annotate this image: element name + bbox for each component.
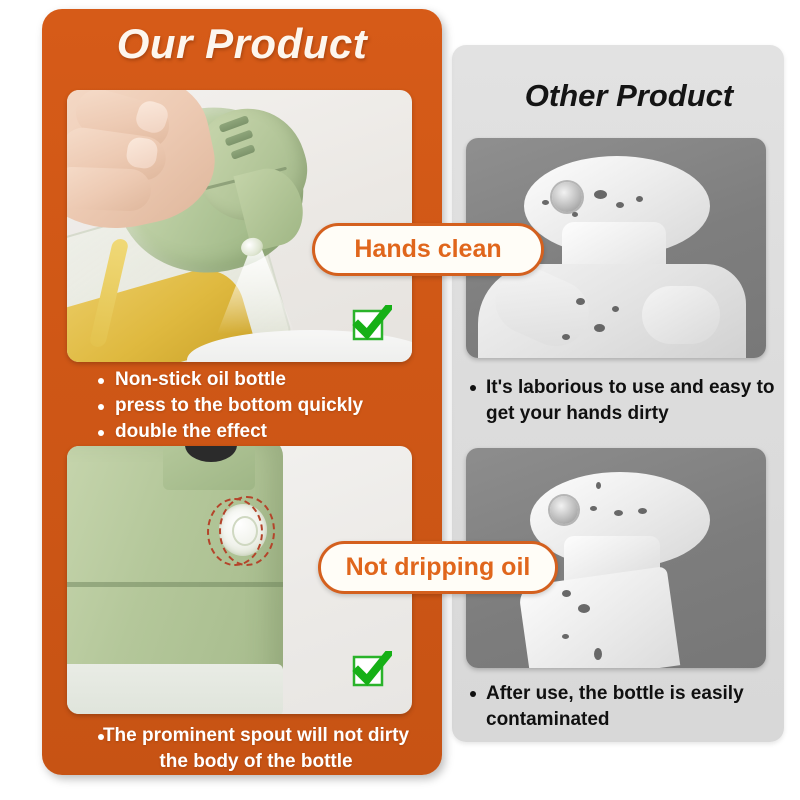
green-check-icon xyxy=(352,651,392,689)
other-product-title: Other Product xyxy=(452,78,784,114)
oil-spot xyxy=(638,508,647,514)
oil-spot xyxy=(594,324,605,332)
infographic-canvas: Other Product It's laborious to use and … xyxy=(0,0,800,800)
our-product-title: Our Product xyxy=(42,20,442,68)
oil-spot xyxy=(572,212,578,217)
oil-spot xyxy=(542,200,549,205)
green-check-icon xyxy=(352,305,392,343)
badge-label: Not dripping oil xyxy=(346,553,531,582)
oil-spot xyxy=(576,298,585,305)
other-drawback-text-1: It's laborious to use and easy to get yo… xyxy=(468,375,780,426)
oil-spot xyxy=(636,196,643,202)
cap-seam xyxy=(67,582,283,587)
oil-spot xyxy=(562,334,570,340)
badge-not-dripping-oil: Not dripping oil xyxy=(318,541,558,594)
badge-label: Hands clean xyxy=(354,235,501,264)
oil-spot xyxy=(616,202,624,208)
highlight-circle-icon xyxy=(219,496,275,566)
oil-spot xyxy=(562,590,571,597)
list-item: Non-stick oil bottle xyxy=(96,367,426,393)
other-valve-icon xyxy=(550,496,578,524)
oil-spot xyxy=(562,634,569,639)
finger xyxy=(67,166,152,211)
list-item: press to the bottom quickly xyxy=(96,393,426,419)
other-drawback-text-2: After use, the bottle is easily contamin… xyxy=(468,681,780,732)
other-valve-icon xyxy=(552,182,582,212)
oil-spot xyxy=(614,510,623,516)
badge-hands-clean: Hands clean xyxy=(312,223,544,276)
oil-spot xyxy=(596,482,601,489)
our-feature-list: Non-stick oil bottle press to the bottom… xyxy=(96,367,426,446)
oil-spot xyxy=(590,506,597,511)
list-item: double the effect xyxy=(96,419,426,445)
oil-spot xyxy=(578,604,590,613)
our-benefit-text: The prominent spout will not dirty the b… xyxy=(78,723,418,774)
other-finger xyxy=(642,286,720,344)
glass-bottle-body xyxy=(67,664,283,714)
oil-spot xyxy=(594,190,607,199)
oil-spot xyxy=(594,648,602,660)
oil-spot xyxy=(612,306,619,312)
